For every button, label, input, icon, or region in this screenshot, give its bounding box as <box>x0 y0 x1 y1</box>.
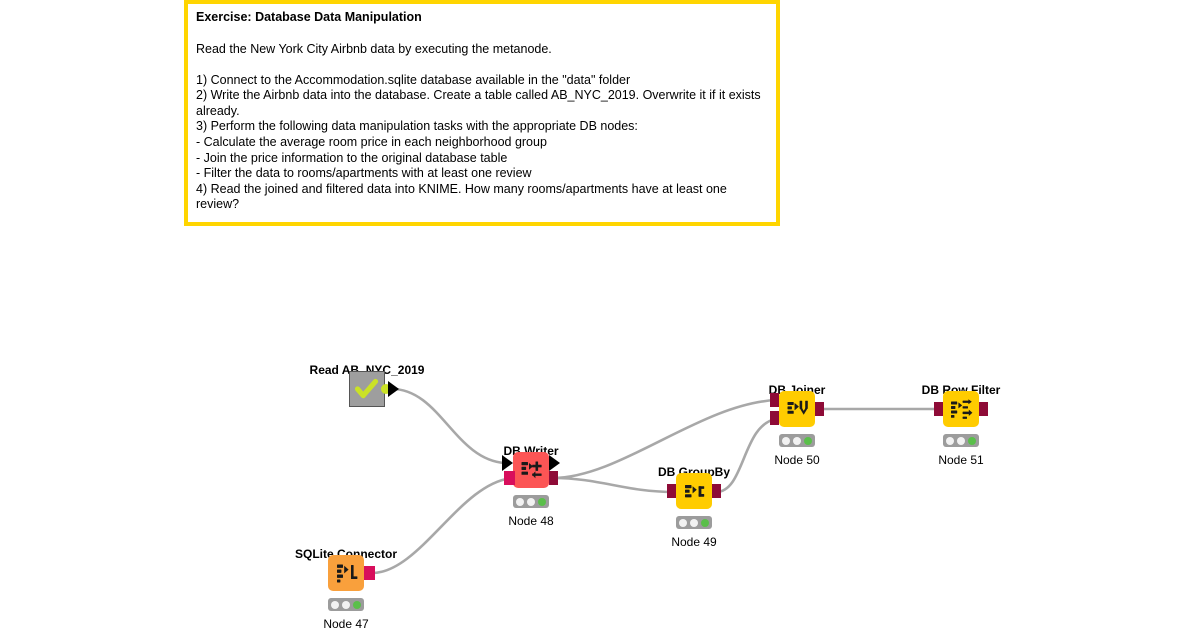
status-led-queued <box>946 437 954 445</box>
node-body-metanode[interactable] <box>349 371 385 407</box>
node-body-db-groupby[interactable] <box>676 473 712 509</box>
status-led-queued <box>516 498 524 506</box>
status-led-executed <box>968 437 976 445</box>
port-db-joiner-db-input-bottom[interactable] <box>770 411 779 425</box>
sqlite-connector-icon <box>328 555 364 591</box>
status-led-executed <box>701 519 709 527</box>
port-db-groupby-db-output[interactable] <box>712 484 721 498</box>
node-body-sqlite-connector[interactable] <box>328 555 364 591</box>
connection-writer-to-groupby <box>553 478 674 492</box>
db-writer-icon <box>513 452 549 488</box>
node-status-db-groupby <box>676 516 712 529</box>
node-status-db-writer <box>513 495 549 508</box>
status-led-executed <box>538 498 546 506</box>
connection-read-to-writer <box>392 389 505 463</box>
node-id-db-groupby: Node 49 <box>671 535 716 549</box>
status-led-executed <box>804 437 812 445</box>
node-id-db-row-filter: Node 51 <box>938 453 983 467</box>
connection-groupby-to-joiner <box>716 419 776 492</box>
status-led-queued <box>331 601 339 609</box>
port-db-writer-data-input[interactable] <box>502 455 513 471</box>
green-check-icon <box>350 372 384 406</box>
connection-layer <box>0 0 1200 630</box>
status-led-queued <box>782 437 790 445</box>
node-id-db-writer: Node 48 <box>508 514 553 528</box>
status-led-running <box>957 437 965 445</box>
node-status-sqlite-connector <box>328 598 364 611</box>
status-led-executed <box>353 601 361 609</box>
node-id-db-joiner: Node 50 <box>774 453 819 467</box>
port-db-row-filter-db-output[interactable] <box>979 402 988 416</box>
db-groupby-icon <box>676 473 712 509</box>
status-led-running <box>690 519 698 527</box>
port-sqlite-db-output[interactable] <box>364 566 375 580</box>
node-body-db-joiner[interactable] <box>779 391 815 427</box>
port-db-row-filter-db-input[interactable] <box>934 402 943 416</box>
db-row-filter-icon <box>943 391 979 427</box>
node-id-sqlite-connector: Node 47 <box>323 617 368 631</box>
db-joiner-icon <box>779 391 815 427</box>
node-body-db-row-filter[interactable] <box>943 391 979 427</box>
node-body-db-writer[interactable] <box>513 452 549 488</box>
workflow-canvas[interactable]: Read AB_NYC_2019 SQLite Connector <box>0 0 1200 630</box>
port-metanode-output-arrow[interactable] <box>388 381 399 397</box>
node-status-db-row-filter <box>943 434 979 447</box>
port-db-joiner-db-output[interactable] <box>815 402 824 416</box>
status-led-running <box>527 498 535 506</box>
port-db-writer-db-output[interactable] <box>549 471 558 485</box>
port-db-groupby-db-input[interactable] <box>667 484 676 498</box>
port-db-writer-db-input[interactable] <box>504 471 515 485</box>
status-led-running <box>342 601 350 609</box>
status-led-running <box>793 437 801 445</box>
port-db-writer-data-output[interactable] <box>549 455 560 471</box>
node-status-db-joiner <box>779 434 815 447</box>
status-led-queued <box>679 519 687 527</box>
port-db-joiner-db-input-top[interactable] <box>770 393 779 407</box>
